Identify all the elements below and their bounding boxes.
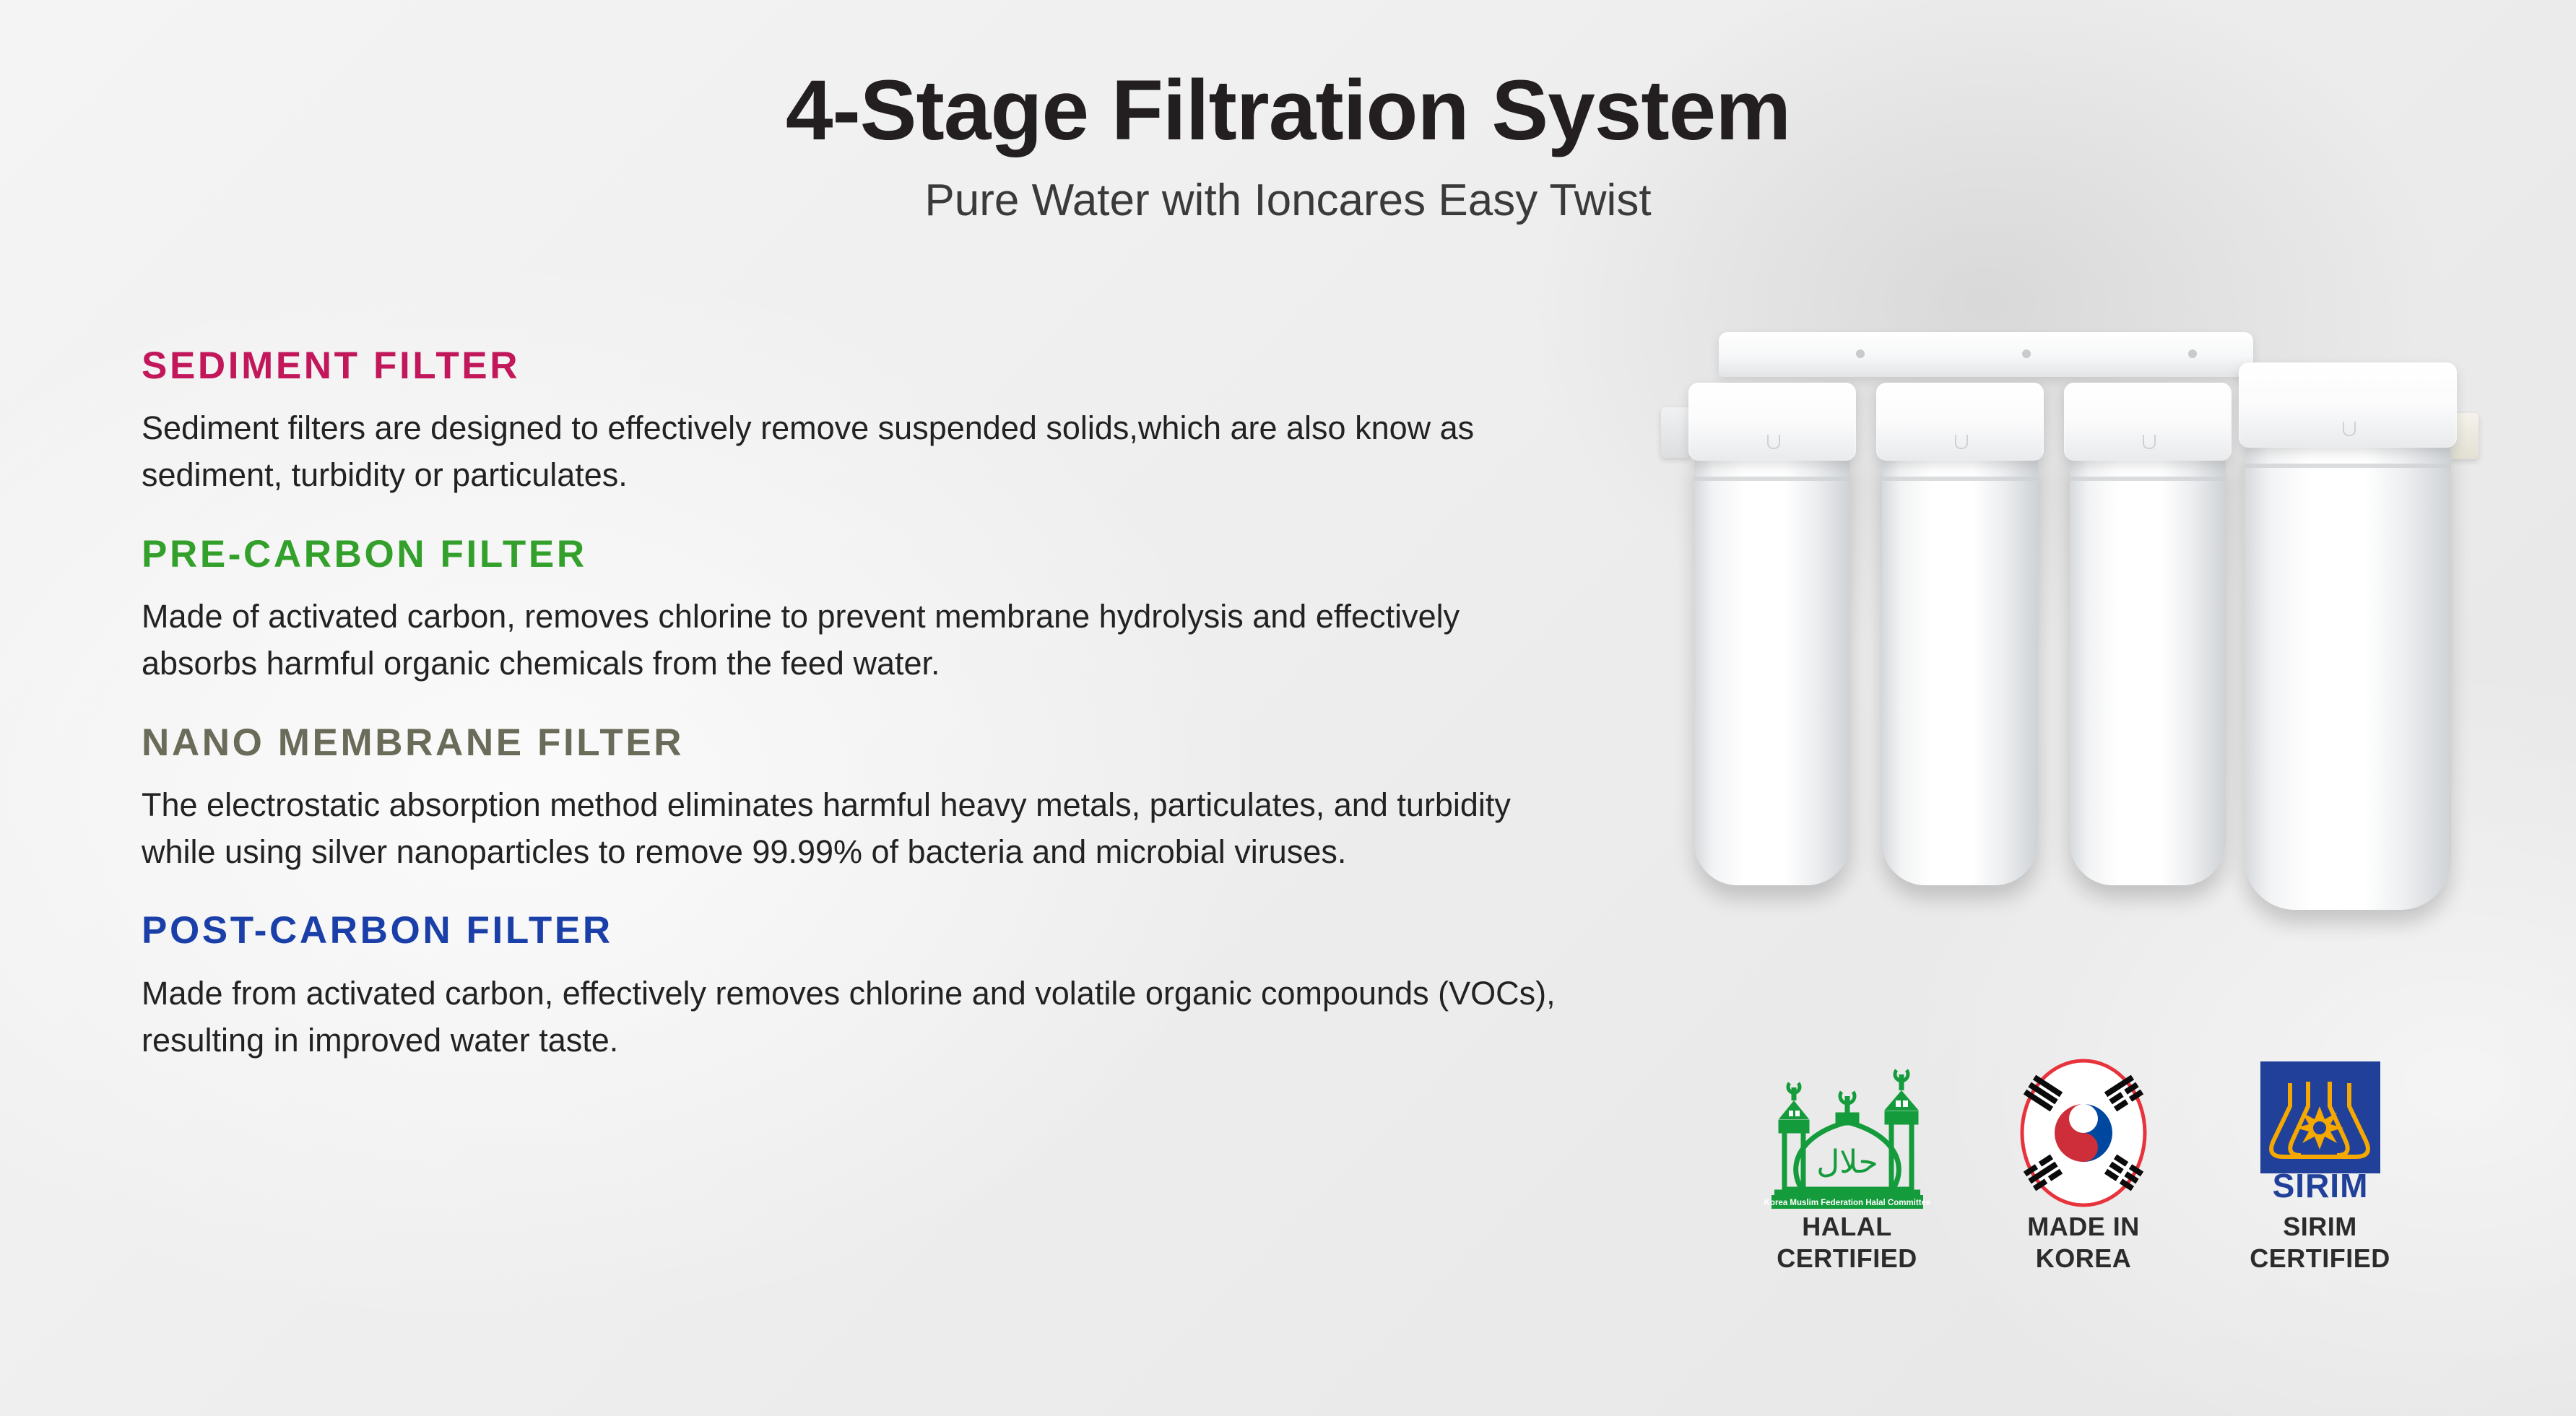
stage-body-post-carbon: Made from activated carbon, effectively … <box>142 970 1557 1064</box>
korea-flag-icon-svg <box>2011 1056 2156 1211</box>
cert-item-made-in-korea: MADE IN KOREA <box>1992 1056 2176 1274</box>
manifold-hole <box>2188 349 2197 358</box>
filter-stages-list: SEDIMENT FILTER Sediment filters are des… <box>142 345 1593 1064</box>
sirim-wordmark: SIRIM <box>2272 1167 2368 1204</box>
cert-caption-line1: HALAL <box>1802 1212 1891 1241</box>
stage-heading-pre-carbon: PRE-CARBON FILTER <box>142 534 1593 575</box>
cert-caption-halal: HALAL CERTIFIED <box>1755 1211 1939 1274</box>
cartridge-cap <box>1688 383 1856 461</box>
neck-ring <box>2245 464 2451 468</box>
halal-committee-text: Korea Muslim Federation Halal Committee <box>1764 1199 1930 1207</box>
stage-block-post-carbon: POST-CARBON FILTER Made from activated c… <box>142 910 1593 1064</box>
stage-heading-sediment: SEDIMENT FILTER <box>142 345 1593 386</box>
cartridge-body <box>1694 452 1850 885</box>
neck-ring <box>2070 477 2226 481</box>
cartridge-body <box>2245 439 2451 910</box>
cartridge-cap <box>2064 383 2232 461</box>
neck-ring <box>1694 477 1850 481</box>
sirim-flask-icon: SIRIM <box>2228 1056 2412 1211</box>
halal-arabic-text: حلال <box>1816 1144 1878 1181</box>
manifold-hole <box>1856 349 1865 358</box>
cert-item-sirim: SIRIM SIRIM CERTIFIED <box>2228 1056 2412 1274</box>
stage-block-nano-membrane: NANO MEMBRANE FILTER The electrostatic a… <box>142 722 1593 876</box>
korea-flag-icon <box>1992 1056 2176 1211</box>
stage-body-pre-carbon: Made of activated carbon, removes chlori… <box>142 594 1557 687</box>
cert-caption-line2: CERTIFIED <box>1755 1243 1939 1274</box>
cert-caption-line2: CERTIFIED <box>2228 1243 2412 1274</box>
cartridge-cap <box>2239 362 2457 448</box>
cert-caption-line1: SIRIM <box>2283 1212 2357 1241</box>
cert-caption-line2: KOREA <box>1992 1243 2176 1274</box>
cartridge-body <box>1882 452 2038 885</box>
cert-item-halal: حلال Korea Muslim Federation Halal Commi… <box>1755 1056 1939 1274</box>
page-title: 4-Stage Filtration System <box>0 66 2576 156</box>
stage-block-sediment: SEDIMENT FILTER Sediment filters are des… <box>142 345 1593 499</box>
stage-heading-post-carbon: POST-CARBON FILTER <box>142 910 1593 951</box>
cartridge-cap <box>1876 383 2044 461</box>
mosque-halal-icon: حلال Korea Muslim Federation Halal Commi… <box>1755 1056 1939 1211</box>
certification-badges: حلال Korea Muslim Federation Halal Commi… <box>1755 1056 2412 1274</box>
header: 4-Stage Filtration System Pure Water wit… <box>0 66 2576 226</box>
poster-canvas: 4-Stage Filtration System Pure Water wit… <box>0 0 2576 1416</box>
cert-caption-sirim: SIRIM CERTIFIED <box>2228 1211 2412 1274</box>
sirim-flask-icon-svg: SIRIM <box>2245 1056 2396 1211</box>
stage-body-sediment: Sediment filters are designed to effecti… <box>142 405 1557 499</box>
neck-ring <box>1882 477 2038 481</box>
stage-heading-nano-membrane: NANO MEMBRANE FILTER <box>142 722 1593 763</box>
manifold-bar <box>1719 332 2253 377</box>
inlet-connector <box>1661 407 1690 458</box>
manifold-hole <box>2022 349 2031 358</box>
stage-block-pre-carbon: PRE-CARBON FILTER Made of activated carb… <box>142 534 1593 687</box>
mosque-halal-icon-svg: حلال Korea Muslim Federation Halal Commi… <box>1757 1056 1938 1211</box>
stage-body-nano-membrane: The electrostatic absorption method elim… <box>142 782 1557 876</box>
product-photo: IONCARES 1 SEDIMENT Sediment filters are… <box>1661 326 2477 998</box>
cert-caption-line1: MADE IN <box>2027 1212 2140 1241</box>
cartridge-body <box>2070 452 2226 885</box>
page-subtitle: Pure Water with Ioncares Easy Twist <box>0 156 2576 226</box>
cert-caption-made-in-korea: MADE IN KOREA <box>1992 1211 2176 1274</box>
